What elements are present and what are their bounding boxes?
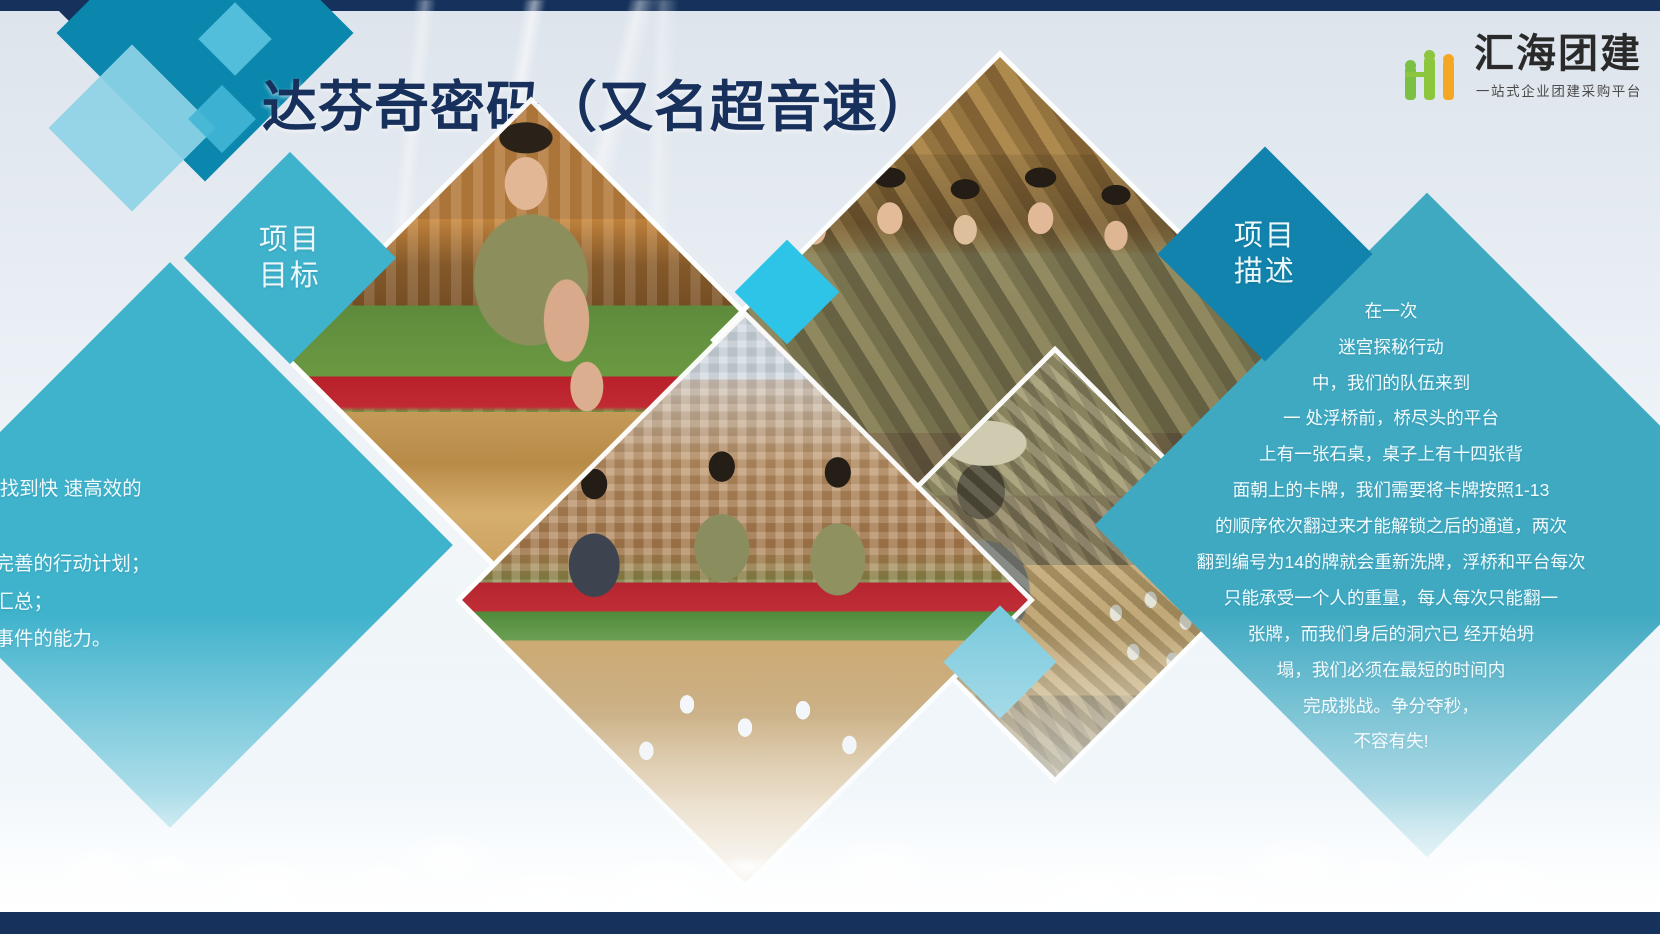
desc-line: 不容有失! bbox=[1120, 724, 1660, 760]
desc-line: 塌，我们必须在最短的时间内 bbox=[1120, 653, 1660, 689]
bottom-navy-band bbox=[0, 912, 1660, 934]
desc-line: 上有一张石桌，桌子上有十四张背 bbox=[1120, 437, 1660, 473]
desc-line: 翻到编号为14的牌就会重新洗牌，浮桥和平台每次 bbox=[1120, 545, 1660, 581]
desc-line: 张牌，而我们身后的洞穴已 经开始坍 bbox=[1120, 617, 1660, 653]
desc-line: 面朝上的卡牌，我们需要将卡牌按照1-13 bbox=[1120, 473, 1660, 509]
goal-item: 4、解决突发事件的能力。 bbox=[0, 621, 256, 658]
project-description-label-line2: 描述 bbox=[1234, 254, 1296, 290]
desc-line: 的顺序依次翻过来才能解锁之后的通道，两次 bbox=[1120, 509, 1660, 545]
goal-item: 2、制定精确完善的行动计划； bbox=[0, 546, 256, 583]
brand-logo: 汇海团建 一站式企业团建采购平台 bbox=[1403, 34, 1642, 100]
desc-line: 完成挑战。争分夺秒， bbox=[1120, 689, 1660, 725]
project-goal-list: 1、针对问题 找到快 速高效的 解决方法； 2、制定精确完善的行动计划； 3、信… bbox=[0, 471, 256, 658]
goal-item: 解决方法； bbox=[0, 509, 256, 546]
brand-name: 汇海团建 bbox=[1474, 34, 1642, 74]
slide-canvas: 达芬奇密码（又名超音速） 汇海团建 一站式企业团建采购平台 1、针对问题 找到快… bbox=[0, 0, 1660, 934]
project-description-label-line1: 项目 bbox=[1234, 218, 1296, 254]
page-title: 达芬奇密码（又名超音速） bbox=[262, 62, 934, 142]
brand-tagline: 一站式企业团建采购平台 bbox=[1476, 80, 1642, 100]
goal-item: 3、信息收集汇总； bbox=[0, 584, 256, 621]
project-goal-label-line2: 目标 bbox=[259, 258, 321, 294]
hi-people-logo-icon bbox=[1403, 48, 1465, 100]
goal-item: 1、针对问题 找到快 速高效的 bbox=[0, 471, 256, 508]
desc-line: 只能承受一个人的重量，每人每次只能翻一 bbox=[1120, 581, 1660, 617]
brand-logo-text: 汇海团建 一站式企业团建采购平台 bbox=[1474, 34, 1642, 100]
project-goal-label-line1: 项目 bbox=[259, 222, 321, 258]
